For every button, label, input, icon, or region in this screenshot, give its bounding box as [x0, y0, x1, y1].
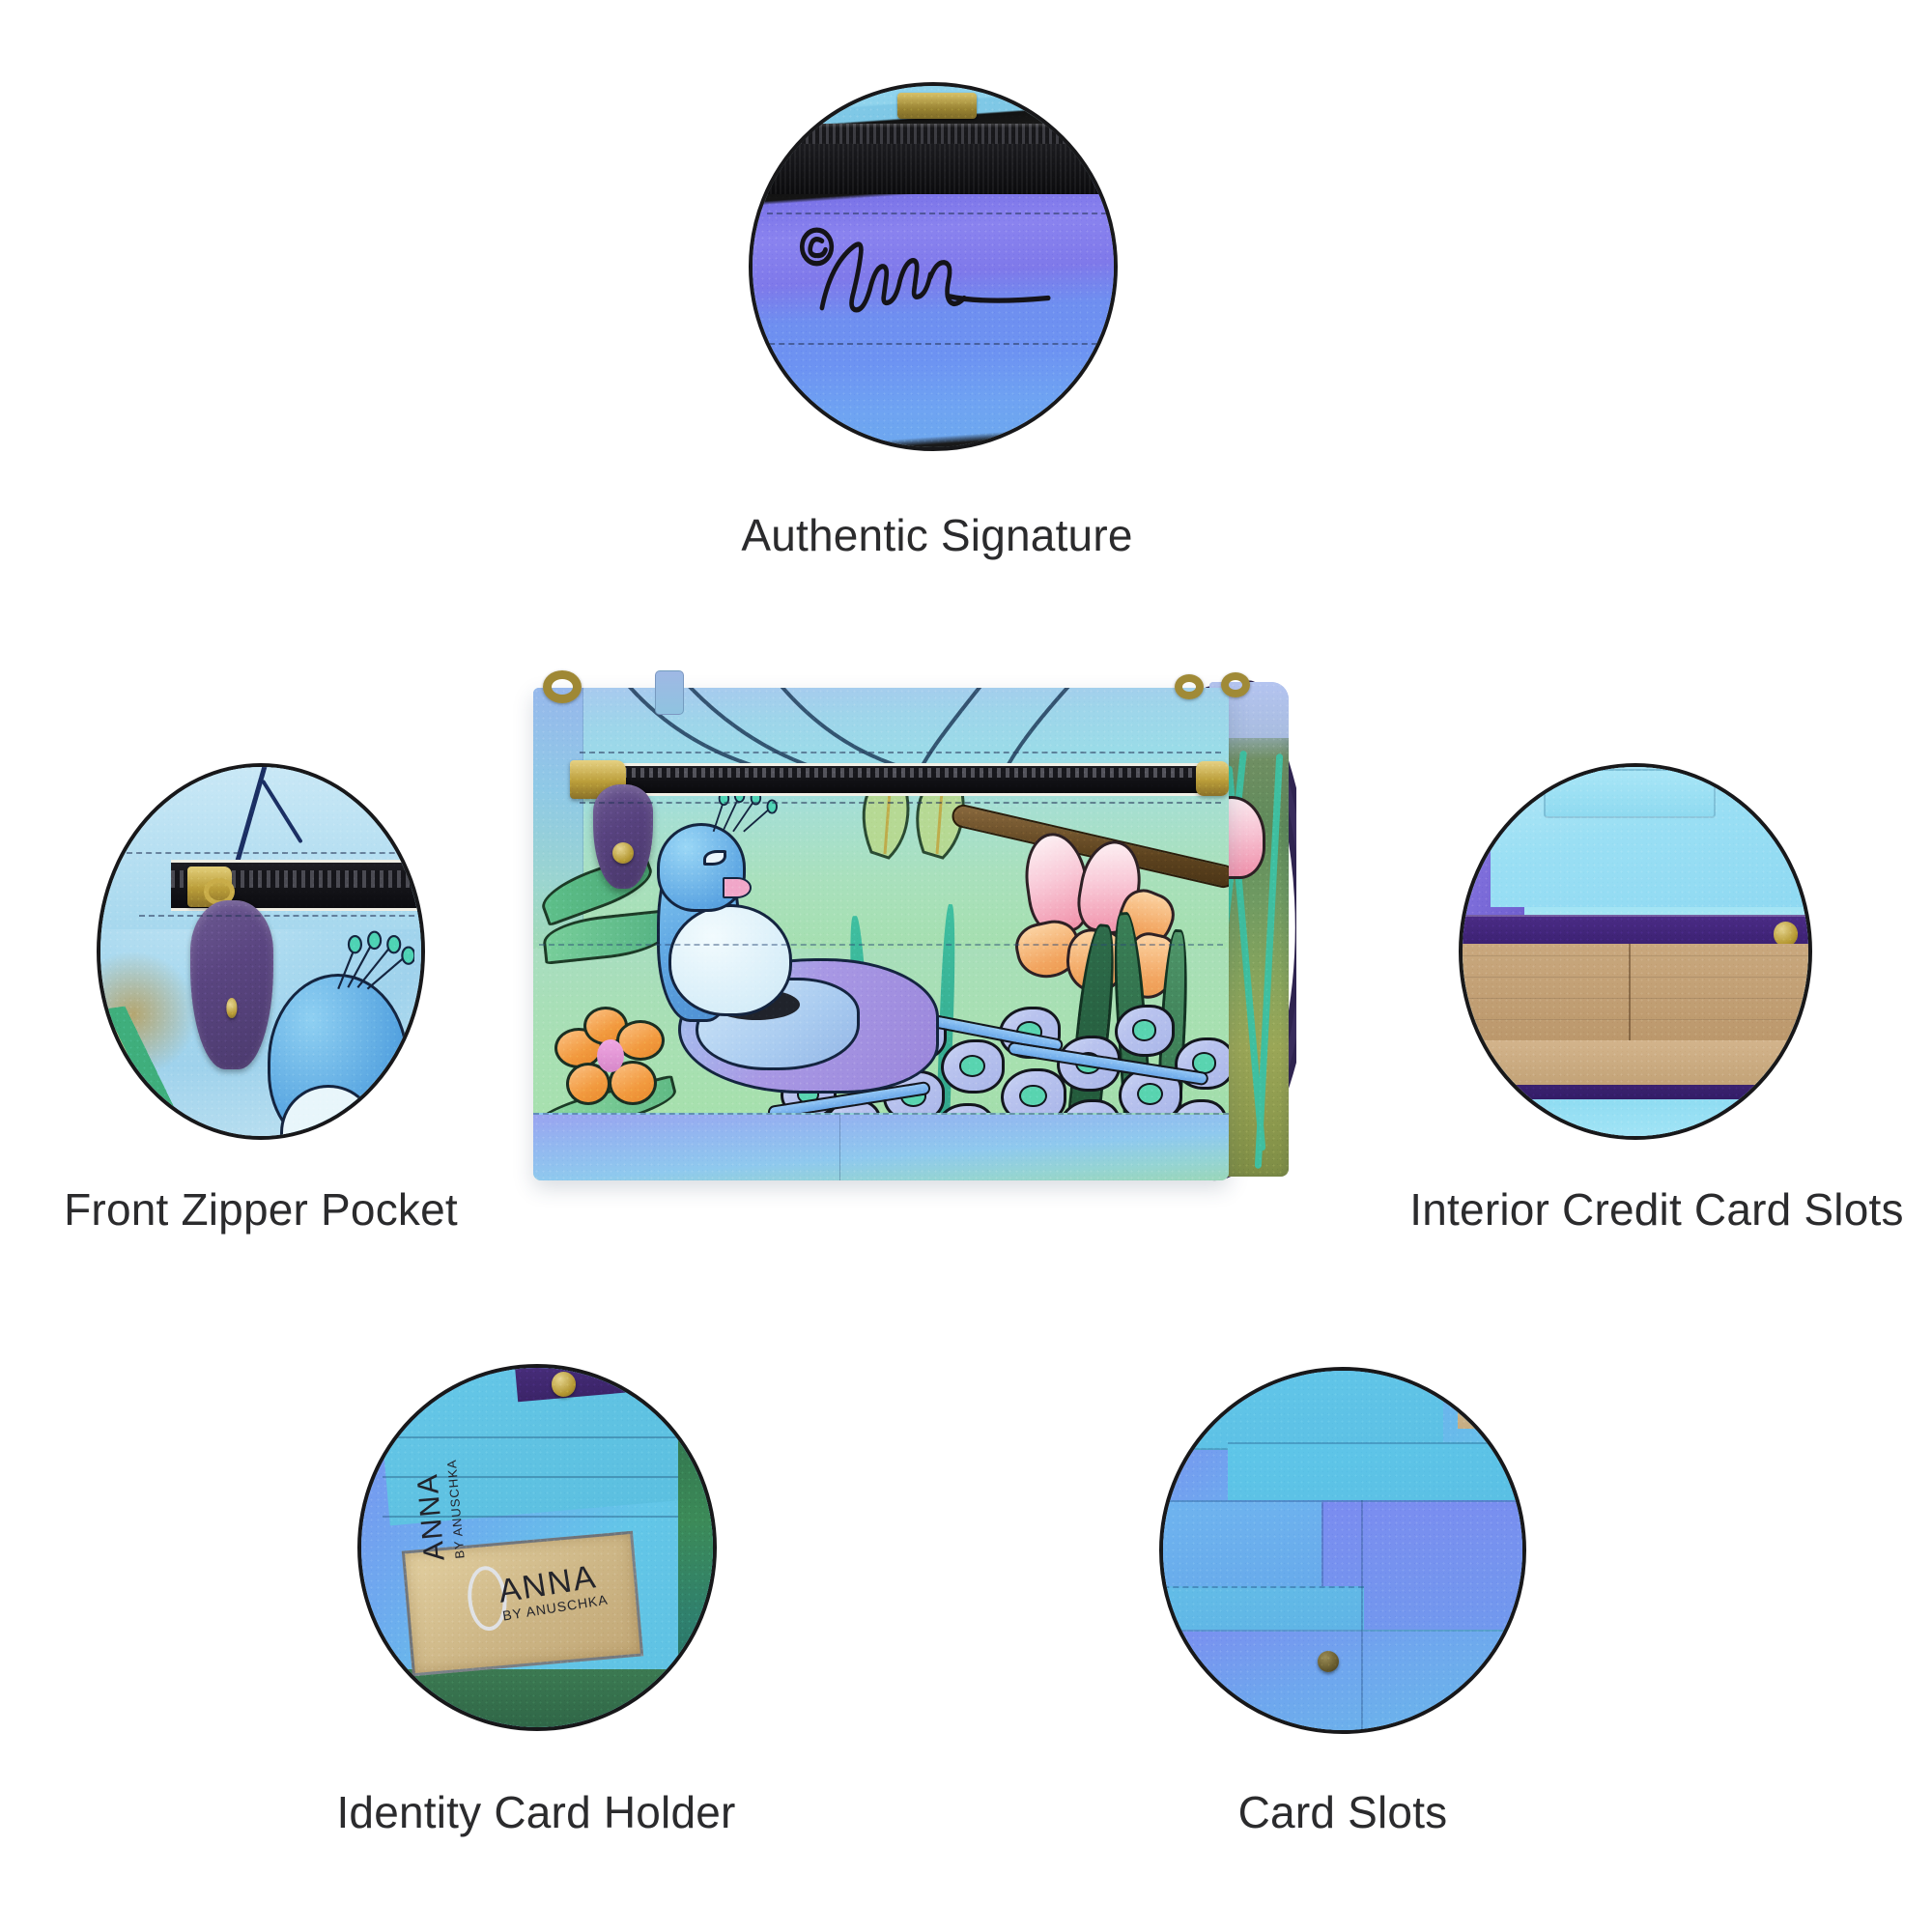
zipper-tape — [749, 144, 1118, 194]
peacock-head — [657, 823, 746, 912]
artist-signature-mark — [796, 223, 1056, 331]
zipper-stop-icon — [1196, 761, 1229, 796]
front-zipper-photo — [100, 767, 421, 1136]
stitch-line — [580, 802, 1221, 804]
stitch-line — [139, 915, 425, 917]
peacock-crest — [709, 792, 781, 833]
bottom-seam — [839, 1115, 840, 1180]
bag-bottom-trim — [533, 1113, 1229, 1180]
brass-rivet-icon — [227, 998, 238, 1017]
strap-ring-right-icon — [1175, 674, 1204, 699]
brass-rivet-icon — [1774, 922, 1798, 946]
peacock-eye — [379, 1094, 391, 1104]
flower-center — [597, 1039, 624, 1072]
front-zipper[interactable] — [580, 763, 1223, 796]
flap-tab — [1544, 769, 1717, 819]
card-slots-detail-bubble[interactable] — [1159, 1367, 1526, 1734]
brand-name-vertical: ANNA BY ANUSCHKA — [411, 1458, 468, 1561]
front-zipper-detail-bubble[interactable] — [97, 763, 425, 1140]
brass-snap-icon — [552, 1372, 576, 1397]
peacock-beak — [723, 877, 752, 898]
callout-label-card-slots: Card Slots — [1140, 1789, 1546, 1835]
callout-label-front-zipper-pocket: Front Zipper Pocket — [19, 1186, 502, 1233]
bag-front-body — [533, 688, 1229, 1180]
signature-detail-bubble[interactable] — [749, 82, 1118, 451]
stitch-line — [580, 752, 1221, 753]
identity-card-photo: ANNA BY ANUSCHKA ANNA BY ANUSCHKA — [361, 1368, 713, 1727]
strap-anchor-tab — [655, 670, 684, 715]
peacock-breast — [668, 904, 792, 1016]
zipper-pull-icon — [897, 93, 977, 118]
product-image-main[interactable] — [533, 665, 1296, 1206]
credit-card-slots-photo: anna artful anna artful anna artful anna… — [1463, 767, 1808, 1136]
callout-label-interior-credit-card-slots: Interior Credit Card Slots — [1381, 1186, 1932, 1233]
callout-label-identity-card-holder: Identity Card Holder — [280, 1789, 792, 1835]
strap-clip-icon — [1221, 672, 1250, 697]
stitch-line — [767, 213, 1107, 214]
flap-hem-stitch — [539, 944, 1223, 946]
card-slot-pocket — [1159, 1630, 1526, 1734]
peacock-crest — [331, 929, 414, 996]
card-slot-pocket — [1159, 1367, 1443, 1450]
stitch-line — [759, 343, 1106, 345]
aqua-flap-panel — [1491, 763, 1812, 907]
brand-logo: ANNA BY ANUSCHKA — [497, 1559, 610, 1624]
blue-leather-base — [1459, 1099, 1812, 1140]
zipper-pull-tab[interactable] — [190, 900, 273, 1070]
zipper-teeth — [580, 768, 1223, 778]
painted-orange-flower — [554, 1007, 667, 1111]
card-slot-edge — [383, 1436, 717, 1438]
painted-green-edge — [357, 1669, 717, 1731]
credit-card-slots-detail-bubble[interactable]: anna artful anna artful anna artful anna… — [1459, 763, 1812, 1140]
peacock-beak — [389, 1117, 407, 1132]
stitch-line — [127, 852, 425, 854]
callout-label-authentic-signature: Authentic Signature — [575, 512, 1299, 558]
identity-card-detail-bubble[interactable]: ANNA BY ANUSCHKA ANNA BY ANUSCHKA — [357, 1364, 717, 1731]
tan-lining-corner — [1458, 1367, 1522, 1429]
signature-photo — [753, 86, 1114, 447]
strap-ring-left-icon — [543, 670, 582, 703]
infographic-canvas: Authentic Signature — [0, 0, 1932, 1932]
vertical-seam — [1361, 1500, 1363, 1734]
card-slots-photo — [1163, 1371, 1522, 1730]
zipper-teeth — [749, 124, 1118, 144]
identity-card-window[interactable]: ANNA BY ANUSCHKA ANNA BY ANUSCHKA — [402, 1530, 644, 1676]
